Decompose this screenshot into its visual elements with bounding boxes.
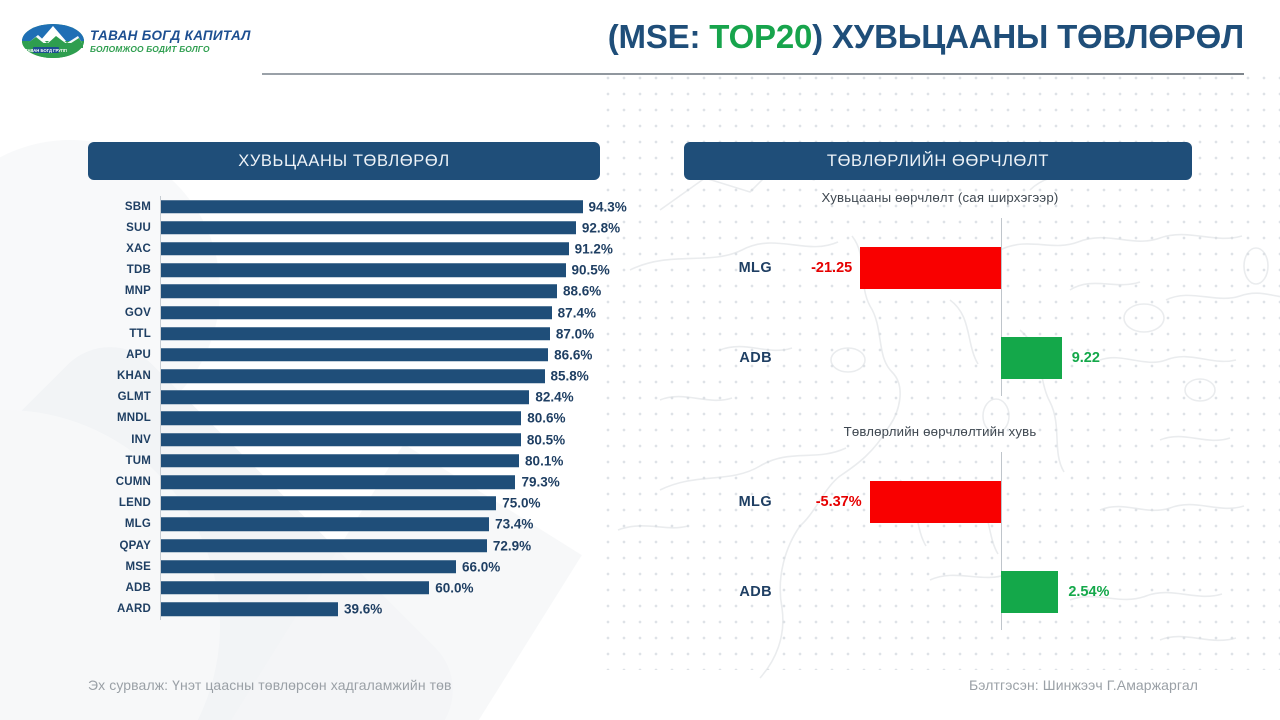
bar-row-label: TUM	[88, 455, 160, 467]
bar	[161, 221, 576, 235]
bar-row-track: 92.8%	[160, 217, 608, 238]
bar-row-track: 79.3%	[160, 471, 608, 492]
logo-company-name: ТАВАН БОГД КАПИТАЛ	[90, 29, 251, 43]
diverging-bar	[1001, 571, 1058, 613]
bar-row-label: GLMT	[88, 391, 160, 403]
diverging-bar-row: ADB9.22	[690, 337, 1190, 379]
bar-value-label: 87.4%	[552, 305, 596, 320]
bar-row-label: QPAY	[88, 540, 160, 552]
bar	[161, 200, 583, 214]
bar	[161, 560, 456, 574]
diverging-bar-label: ADB	[700, 584, 772, 600]
page-title-prefix: (MSE:	[608, 18, 709, 55]
panel-header-change: ТӨВЛӨРЛИЙН ӨӨРЧЛӨЛТ	[684, 142, 1192, 180]
bar-row: GOV87.4%	[88, 302, 608, 323]
bar	[161, 327, 550, 341]
page-header: ТАВАН БОГД ГРУПП ТАВАН БОГД КАПИТАЛ БОЛО…	[0, 0, 1280, 82]
chart-share-change-plot: MLG-21.25ADB9.22	[690, 218, 1190, 396]
panel-header-concentration-label: ХУВЬЦААНЫ ТӨВЛӨРӨЛ	[238, 152, 450, 171]
bar-row-label: TDB	[88, 264, 160, 276]
bar	[161, 369, 545, 383]
bar-row: LEND75.0%	[88, 493, 608, 514]
bar	[161, 581, 429, 595]
bar	[161, 391, 529, 405]
diverging-bar-value-label: 2.54%	[1068, 584, 1109, 600]
bar-row-track: 75.0%	[160, 493, 608, 514]
bar-row-track: 73.4%	[160, 514, 608, 535]
bar-row: ADB60.0%	[88, 577, 608, 598]
bar	[161, 242, 569, 256]
bar-row-track: 80.6%	[160, 408, 608, 429]
bar-value-label: 90.5%	[566, 263, 610, 278]
chart-concentration-change: Төвлөрлийн өөрчлөлтийн хувь MLG-5.37%ADB…	[690, 424, 1190, 639]
bar-row-label: TTL	[88, 328, 160, 340]
bar-row-track: 87.4%	[160, 302, 608, 323]
bar-row: INV80.5%	[88, 429, 608, 450]
mountain-logo-icon: ТАВАН БОГД ГРУПП	[22, 22, 84, 60]
bar-row-track: 94.3%	[160, 196, 608, 217]
bar-row: CUMN79.3%	[88, 471, 608, 492]
diverging-bar-label: ADB	[700, 350, 772, 366]
bar-row-track: 85.8%	[160, 366, 608, 387]
bar-row-label: LEND	[88, 497, 160, 509]
bar-row-track: 72.9%	[160, 535, 608, 556]
bar	[161, 348, 548, 362]
bar-value-label: 75.0%	[496, 496, 540, 511]
diverging-bar-row: ADB2.54%	[690, 571, 1190, 613]
bar-row-track: 86.6%	[160, 344, 608, 365]
bar-row-track: 90.5%	[160, 260, 608, 281]
chart-concentration: SBM94.3%SUU92.8%XAC91.2%TDB90.5%MNP88.6%…	[88, 196, 608, 620]
bar-value-label: 66.0%	[456, 559, 500, 574]
bar-value-label: 80.6%	[521, 411, 565, 426]
bar-row-label: MNP	[88, 285, 160, 297]
bar-row-label: CUMN	[88, 476, 160, 488]
bar-row: AARD39.6%	[88, 599, 608, 620]
bar-row: KHAN85.8%	[88, 366, 608, 387]
bar-value-label: 92.8%	[576, 220, 620, 235]
bar-row-label: AARD	[88, 603, 160, 615]
page-title-accent: TOP20	[709, 18, 812, 55]
bar-value-label: 88.6%	[557, 284, 601, 299]
diverging-bar	[870, 481, 1001, 523]
bar-row: SUU92.8%	[88, 217, 608, 238]
bar-value-label: 82.4%	[529, 390, 573, 405]
bar-row: SBM94.3%	[88, 196, 608, 217]
chart-share-change-title: Хувьцааны өөрчлөлт (сая ширхэгээр)	[690, 190, 1190, 205]
diverging-bar-value-label: -21.25	[790, 260, 852, 276]
bar-value-label: 80.1%	[519, 453, 563, 468]
bar	[161, 412, 521, 426]
bar-value-label: 80.5%	[521, 432, 565, 447]
panel-header-change-label: ТӨВЛӨРЛИЙН ӨӨРЧЛӨЛТ	[827, 152, 1049, 171]
bar	[161, 539, 487, 553]
diverging-bar-value-label: 9.22	[1072, 350, 1100, 366]
bar-row: MSE66.0%	[88, 556, 608, 577]
bar-row-track: 60.0%	[160, 577, 608, 598]
bar-row-track: 80.5%	[160, 429, 608, 450]
footer-source: Эх сурвалж: Үнэт цаасны төвлөрсөн хадгал…	[88, 677, 452, 693]
bar-row-label: MLG	[88, 518, 160, 530]
bar-value-label: 72.9%	[487, 538, 531, 553]
bar-value-label: 86.6%	[548, 347, 592, 362]
bar-row-label: XAC	[88, 243, 160, 255]
bar-row-label: GOV	[88, 307, 160, 319]
bar-row-label: MNDL	[88, 412, 160, 424]
bar-row-label: APU	[88, 349, 160, 361]
bar-row: MLG73.4%	[88, 514, 608, 535]
bar-row-label: INV	[88, 434, 160, 446]
bar-row: TUM80.1%	[88, 450, 608, 471]
bar	[161, 306, 552, 320]
diverging-bar-label: MLG	[700, 494, 772, 510]
svg-text:ТАВАН БОГД ГРУПП: ТАВАН БОГД ГРУПП	[25, 48, 67, 53]
bar	[161, 496, 496, 510]
diverging-bar-row: MLG-5.37%	[690, 481, 1190, 523]
bar	[161, 602, 338, 616]
bar	[161, 263, 566, 277]
chart-concentration-change-plot: MLG-5.37%ADB2.54%	[690, 452, 1190, 630]
bar-row: TTL87.0%	[88, 323, 608, 344]
diverging-bar-label: MLG	[700, 260, 772, 276]
page-title-suffix: ) ХУВЬЦААНЫ ТӨВЛӨРӨЛ	[812, 18, 1244, 55]
bar	[161, 518, 489, 532]
bar-row-track: 88.6%	[160, 281, 608, 302]
bar-row: XAC91.2%	[88, 238, 608, 259]
company-logo: ТАВАН БОГД ГРУПП ТАВАН БОГД КАПИТАЛ БОЛО…	[22, 22, 251, 60]
bar-row: TDB90.5%	[88, 260, 608, 281]
footer-author: Бэлтгэсэн: Шинжээч Г.Амаржаргал	[969, 677, 1198, 693]
bar-row-track: 39.6%	[160, 599, 608, 620]
diverging-bar	[1001, 337, 1062, 379]
bar-row-label: SBM	[88, 201, 160, 213]
bar-row-track: 91.2%	[160, 238, 608, 259]
bar-value-label: 91.2%	[569, 241, 613, 256]
bar-value-label: 73.4%	[489, 517, 533, 532]
page-title: (MSE: TOP20) ХУВЬЦААНЫ ТӨВЛӨРӨЛ	[608, 18, 1244, 56]
bar-row: APU86.6%	[88, 344, 608, 365]
bar-row-track: 80.1%	[160, 450, 608, 471]
bar-row-label: ADB	[88, 582, 160, 594]
bar-row-label: SUU	[88, 222, 160, 234]
bar-row-track: 82.4%	[160, 387, 608, 408]
bar-row-track: 66.0%	[160, 556, 608, 577]
title-divider	[262, 73, 1244, 75]
chart-share-change: Хувьцааны өөрчлөлт (сая ширхэгээр) MLG-2…	[690, 190, 1190, 405]
bar-value-label: 79.3%	[515, 475, 559, 490]
bar-row: GLMT82.4%	[88, 387, 608, 408]
diverging-bar-row: MLG-21.25	[690, 247, 1190, 289]
bar-value-label: 39.6%	[338, 602, 382, 617]
bar-row-label: KHAN	[88, 370, 160, 382]
bar	[161, 475, 515, 489]
bar-row: QPAY72.9%	[88, 535, 608, 556]
bar	[161, 433, 521, 447]
bar-value-label: 85.8%	[545, 369, 589, 384]
diverging-bar-value-label: -5.37%	[800, 494, 862, 510]
bar-row-label: MSE	[88, 561, 160, 573]
logo-tagline: БОЛОМЖОО БОДИТ БОЛГО	[90, 45, 251, 53]
bar	[161, 285, 557, 299]
chart-concentration-change-title: Төвлөрлийн өөрчлөлтийн хувь	[690, 424, 1190, 439]
bar	[161, 454, 519, 468]
bar-value-label: 94.3%	[583, 199, 627, 214]
bar-value-label: 60.0%	[429, 580, 473, 595]
panel-header-concentration: ХУВЬЦААНЫ ТӨВЛӨРӨЛ	[88, 142, 600, 180]
diverging-bar	[860, 247, 1001, 289]
bar-row-track: 87.0%	[160, 323, 608, 344]
bar-value-label: 87.0%	[550, 326, 594, 341]
bar-row: MNP88.6%	[88, 281, 608, 302]
bar-row: MNDL80.6%	[88, 408, 608, 429]
